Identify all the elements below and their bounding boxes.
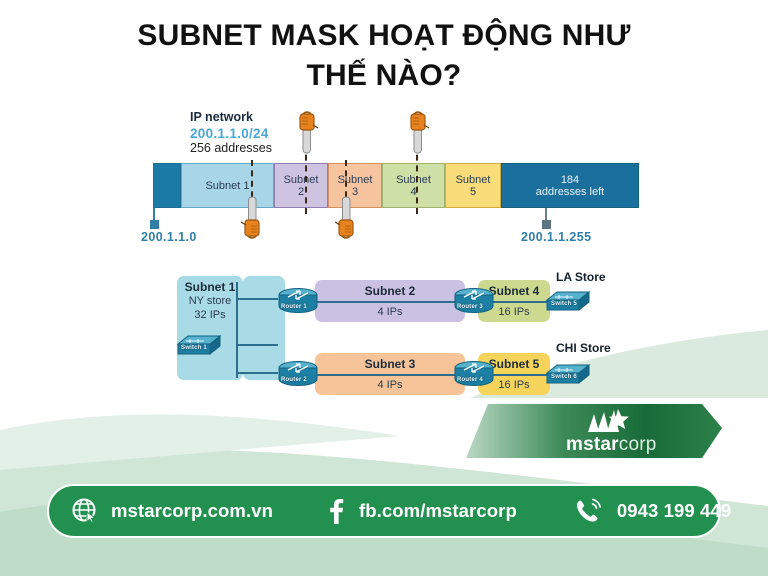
wire-bus-router2 — [236, 372, 278, 374]
switch-1-icon — [176, 330, 222, 358]
subnet5-ips: 16 IPs — [498, 378, 529, 392]
chainsaw-icon-top-2 — [407, 110, 429, 154]
contact-footer-bar: mstarcorp.com.vn fb.com/mstarcorp 0943 1… — [47, 484, 721, 538]
subnet4-ips: 16 IPs — [498, 305, 529, 319]
chainsaw-icon-bottom-1 — [241, 196, 263, 240]
wire-router1-router3 — [302, 301, 462, 303]
phone-icon — [573, 496, 603, 526]
wire-bus-switch1 — [236, 344, 278, 346]
subnet1-labels: Subnet 1 NY store 32 IPs — [177, 276, 243, 380]
switch-6-icon — [545, 359, 591, 387]
subnet5-title: Subnet 5 — [489, 357, 540, 371]
wire-router2-router4 — [302, 374, 462, 376]
chainsaw-icon-bottom-2 — [335, 196, 357, 240]
ip-network-addresses: 256 addresses — [190, 141, 272, 157]
footer-facebook[interactable]: fb.com/mstarcorp — [327, 484, 517, 538]
title-line-1: SUBNET MASK HOẠT ĐỘNG NHƯ — [0, 16, 768, 56]
subnet1-store: NY store — [177, 294, 243, 308]
cut-line-2 — [416, 144, 418, 214]
subnet3-ips: 4 IPs — [377, 378, 402, 392]
brand-wordmark: mstarcorp — [566, 434, 657, 456]
la-store-label: LA Store — [556, 270, 606, 284]
subnet2-title: Subnet 2 — [365, 284, 416, 298]
footer-phone[interactable]: 0943 199 449 — [573, 484, 731, 538]
address-start-label: 200.1.1.0 — [141, 230, 197, 244]
chainsaw-icon-top-1 — [296, 110, 318, 154]
subnet1-title: Subnet 1 — [177, 280, 243, 294]
router-2-icon — [276, 359, 320, 389]
router-4-label: Router 4 — [457, 377, 483, 383]
footer-website[interactable]: mstarcorp.com.vn — [71, 484, 273, 538]
website-text: mstarcorp.com.vn — [111, 500, 273, 522]
router-2-label: Router 2 — [281, 377, 307, 383]
facebook-text: fb.com/mstarcorp — [359, 500, 517, 522]
router-1-label: Router 1 — [281, 304, 307, 310]
switch-5-label: Switch 5 — [551, 301, 577, 307]
subnet2-ips: 4 IPs — [377, 305, 402, 319]
ip-network-heading: IP network — [190, 110, 272, 126]
router-3-label: Router 3 — [457, 304, 483, 310]
router-3-icon — [452, 286, 496, 316]
title-line-2: THẾ NÀO? — [0, 56, 768, 96]
subnet1-ips: 32 IPs — [177, 308, 243, 322]
subnet3-title: Subnet 3 — [365, 357, 416, 371]
router-1-icon — [276, 286, 320, 316]
ip-network-cidr: 200.1.1.0/24 — [190, 126, 272, 142]
mstar-logo-icon — [588, 408, 632, 434]
cut-line-1 — [305, 144, 307, 214]
router-4-icon — [452, 359, 496, 389]
phone-text: 0943 199 449 — [617, 500, 731, 522]
subnet4-title: Subnet 4 — [489, 284, 540, 298]
ip-network-panel: IP network 200.1.1.0/24 256 addresses — [190, 110, 272, 157]
page-title: SUBNET MASK HOẠT ĐỘNG NHƯ THẾ NÀO? — [0, 16, 768, 96]
switch-1-label: Switch 1 — [181, 345, 207, 351]
facebook-icon — [327, 497, 345, 525]
brand-name-bold: mstar — [566, 434, 619, 455]
switch-6-label: Switch 6 — [551, 374, 577, 380]
subnet1-bus — [236, 282, 238, 378]
switch-5-icon — [545, 286, 591, 314]
globe-icon — [71, 497, 99, 525]
address-end-label: 200.1.1.255 — [521, 230, 591, 244]
chi-store-label: CHI Store — [556, 341, 611, 355]
wire-bus-router1 — [236, 298, 278, 300]
brand-name-light: corp — [619, 434, 657, 455]
